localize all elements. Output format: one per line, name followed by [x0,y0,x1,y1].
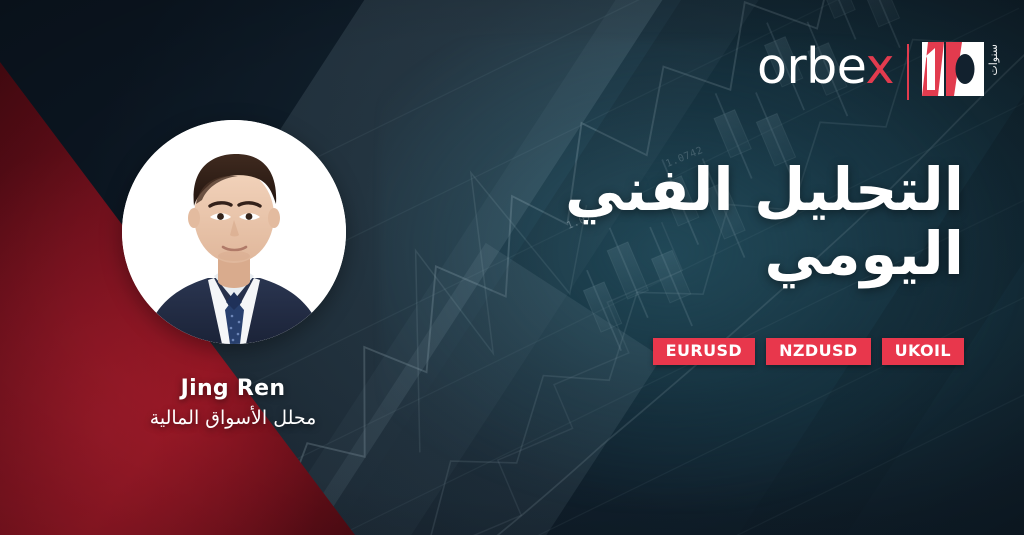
page-title: التحليل الفني اليومي [565,158,964,285]
banner-root: 1.0742 1.0742 [0,0,1024,535]
anniversary-number-icon [922,42,984,96]
headline-line-1: التحليل الفني [565,158,964,222]
orbex-wordmark-main: orbe [757,38,866,95]
headline-line-2: اليومي [565,222,964,286]
avatar [122,120,346,344]
instrument-badges: EURUSD NZDUSD UKOIL [653,338,964,365]
anniversary-label: سنوات [987,44,1000,76]
orbex-wordmark-x: x [866,38,895,95]
analyst-block: Jing Ren محلل الأسواق المالية [60,376,406,429]
anniversary-mark: سنوات [922,42,1000,96]
badge-eurusd[interactable]: EURUSD [653,338,755,365]
orbex-wordmark: orbex [757,42,894,91]
analyst-name: Jing Ren [60,376,406,401]
badge-nzdusd[interactable]: NZDUSD [766,338,870,365]
orbex-logo[interactable]: orbex [757,42,1000,100]
analyst-role: محلل الأسواق المالية [60,407,406,429]
logo-divider [907,44,909,100]
badge-ukoil[interactable]: UKOIL [882,338,964,365]
